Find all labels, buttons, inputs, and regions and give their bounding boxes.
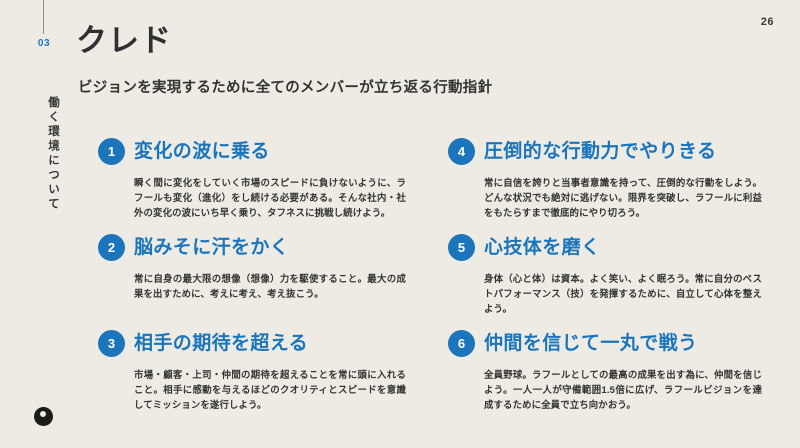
credo-title: 脳みそに汗をかく bbox=[134, 238, 289, 257]
credo-title: 相手の期待を超える bbox=[134, 334, 308, 353]
credo-number-badge: 1 bbox=[98, 138, 125, 165]
credo-number-badge: 2 bbox=[98, 234, 125, 261]
credo-title: 心技体を磨く bbox=[484, 238, 600, 257]
credo-body: 身体（心と体）は資本。よく笑い、よく眠ろう。常に自分のベストパフォーマンス（技）… bbox=[484, 271, 762, 317]
credo-heading: 2 脳みそに汗をかく bbox=[98, 232, 438, 263]
credo-title: 変化の波に乗る bbox=[134, 142, 270, 161]
page-number: 26 bbox=[761, 16, 774, 28]
slide-root: 26 03 働く環境について クレド ビジョンを実現するために全てのメンバーが立… bbox=[0, 0, 800, 448]
credo-grid: 1 変化の波に乗る 瞬く間に変化をしていく市場のスピードに負けないように、ラフー… bbox=[98, 136, 788, 424]
page-title: クレド bbox=[76, 24, 172, 58]
credo-body: 全員野球。ラフールとしての最高の成果を出す為に、仲間を信じよう。一人一人が守備範… bbox=[484, 367, 762, 413]
credo-heading: 4 圧倒的な行動力でやりきる bbox=[448, 136, 788, 167]
credo-item: 3 相手の期待を超える 市場・顧客・上司・仲間の期待を超えることを常に頭に入れる… bbox=[98, 328, 438, 424]
credo-body: 常に自身の最大限の想像（想像）力を駆使すること。最大の成果を出すために、考えに考… bbox=[134, 271, 406, 301]
credo-number-badge: 4 bbox=[448, 138, 475, 165]
credo-body: 常に自信を誇りと当事者意識を持って、圧倒的な行動をしよう。どんな状況でも絶対に逃… bbox=[484, 175, 762, 221]
credo-number-badge: 3 bbox=[98, 330, 125, 357]
credo-heading: 3 相手の期待を超える bbox=[98, 328, 438, 359]
lafool-logo-mark-icon bbox=[34, 407, 53, 426]
credo-heading: 5 心技体を磨く bbox=[448, 232, 788, 263]
credo-number-badge: 6 bbox=[448, 330, 475, 357]
credo-title: 圧倒的な行動力でやりきる bbox=[484, 142, 716, 161]
page-subtitle: ビジョンを実現するために全てのメンバーが立ち返る行動指針 bbox=[78, 76, 492, 97]
credo-item: 1 変化の波に乗る 瞬く間に変化をしていく市場のスピードに負けないように、ラフー… bbox=[98, 136, 438, 232]
credo-title: 仲間を信じて一丸で戦う bbox=[484, 334, 697, 353]
credo-heading: 6 仲間を信じて一丸で戦う bbox=[448, 328, 788, 359]
credo-item: 6 仲間を信じて一丸で戦う 全員野球。ラフールとしての最高の成果を出す為に、仲間… bbox=[448, 328, 788, 424]
credo-number-badge: 5 bbox=[448, 234, 475, 261]
credo-heading: 1 変化の波に乗る bbox=[98, 136, 438, 167]
section-rail: 03 働く環境について bbox=[30, 0, 74, 448]
credo-body: 市場・顧客・上司・仲間の期待を超えることを常に頭に入れること。相手に感動を与える… bbox=[134, 367, 406, 413]
section-label-vertical: 働く環境について bbox=[30, 54, 58, 254]
section-number: 03 bbox=[30, 38, 58, 49]
credo-item: 5 心技体を磨く 身体（心と体）は資本。よく笑い、よく眠ろう。常に自分のベストパ… bbox=[448, 232, 788, 328]
credo-item: 2 脳みそに汗をかく 常に自身の最大限の想像（想像）力を駆使すること。最大の成果… bbox=[98, 232, 438, 328]
rail-divider-line bbox=[43, 0, 44, 34]
credo-body: 瞬く間に変化をしていく市場のスピードに負けないように、ラフールも変化（進化）をし… bbox=[134, 175, 406, 221]
credo-item: 4 圧倒的な行動力でやりきる 常に自信を誇りと当事者意識を持って、圧倒的な行動を… bbox=[448, 136, 788, 232]
